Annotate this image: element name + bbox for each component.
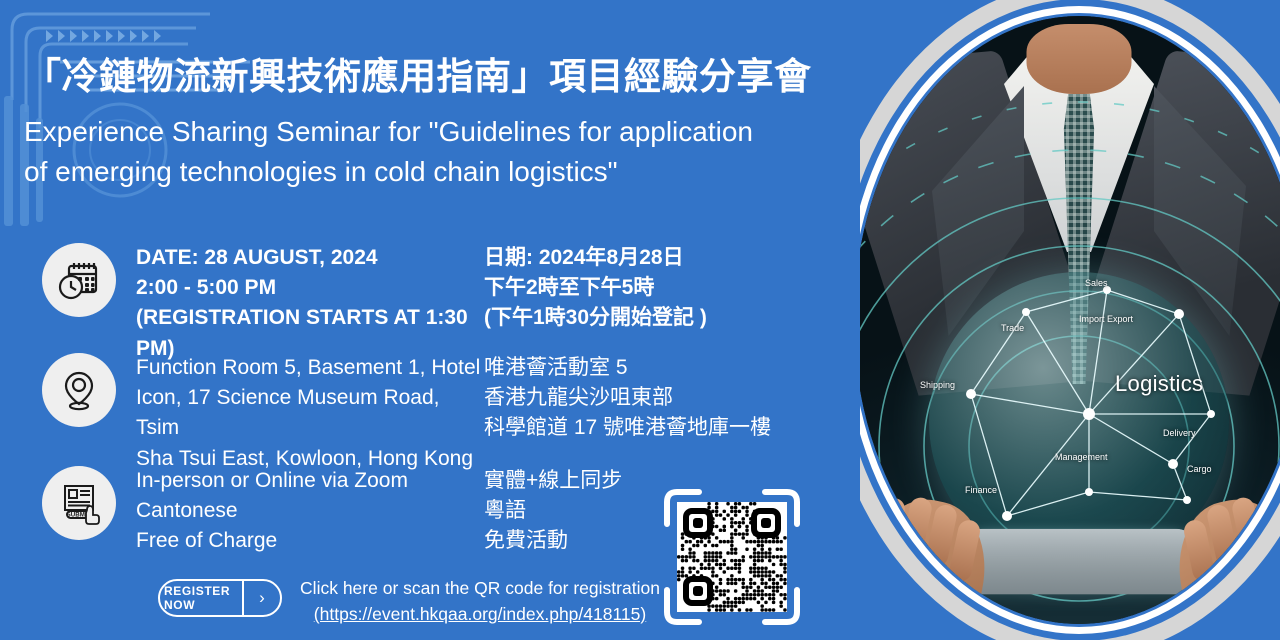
qr-matrix-svg bbox=[677, 502, 787, 612]
register-now-label: REGISTER NOW bbox=[160, 581, 242, 615]
location-text-chinese: 唯港薈活動室 5 香港九龍尖沙咀東部 科學館道 17 號唯港薈地庫一樓 bbox=[484, 353, 784, 474]
location-text-english: Function Room 5, Basement 1, Hotel Icon,… bbox=[136, 353, 484, 474]
registration-url-link[interactable]: (https://event.hkqaa.org/index.php/41811… bbox=[314, 604, 646, 624]
chevron-right-icon: › bbox=[244, 581, 280, 615]
title-chinese: 「冷鏈物流新興技術應用指南」項目經驗分享會 bbox=[24, 56, 884, 98]
format-text-english: In-person or Online via Zoom Cantonese F… bbox=[136, 466, 484, 557]
poster-canvas: TradeSalesImport ExportShippingLogistics… bbox=[0, 0, 1280, 640]
qr-matrix bbox=[677, 502, 787, 612]
submit-form-icon: SUBMIT bbox=[42, 466, 116, 540]
businessman-photo: TradeSalesImport ExportShippingLogistics… bbox=[860, 16, 1280, 624]
info-row-location: Function Room 5, Basement 1, Hotel Icon,… bbox=[42, 353, 784, 474]
info-row-date: DATE: 28 AUGUST, 2024 2:00 - 5:00 PM (RE… bbox=[42, 243, 784, 364]
registration-cta: Click here or scan the QR code for regis… bbox=[300, 576, 660, 627]
qr-code[interactable] bbox=[663, 488, 801, 626]
cta-line-1: Click here or scan the QR code for regis… bbox=[300, 576, 660, 602]
map-pin-icon bbox=[42, 353, 116, 427]
hero-photo-panel: TradeSalesImport ExportShippingLogistics… bbox=[860, 0, 1280, 640]
register-now-button[interactable]: REGISTER NOW › bbox=[158, 579, 282, 617]
title-english: Experience Sharing Seminar for "Guidelin… bbox=[24, 112, 854, 192]
date-text-english: DATE: 28 AUGUST, 2024 2:00 - 5:00 PM (RE… bbox=[136, 243, 484, 364]
calendar-clock-icon bbox=[42, 243, 116, 317]
date-text-chinese: 日期: 2024年8月28日 下午2時至下午5時 (下午1時30分開始登記 ) bbox=[484, 243, 784, 364]
